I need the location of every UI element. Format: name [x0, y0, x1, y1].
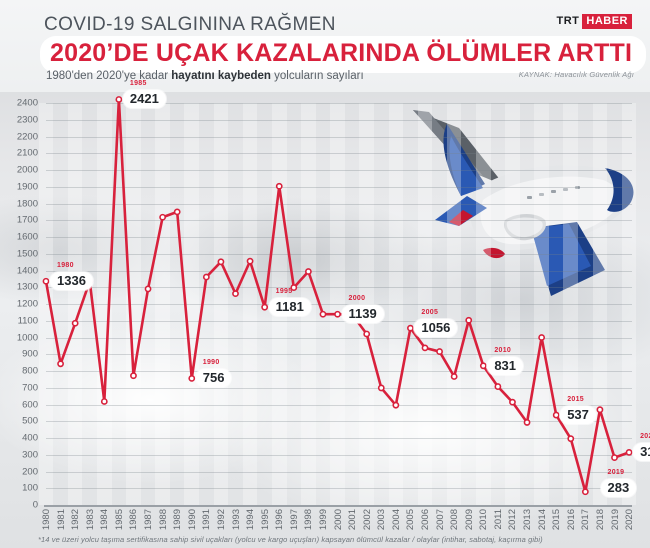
y-axis-tick-label: 200 [0, 466, 38, 477]
x-axis-tick-label: 1984 [99, 509, 110, 530]
x-axis-tick-label: 1994 [245, 509, 256, 530]
data-callout: 2010831 [487, 357, 523, 375]
x-axis-tick-label: 2004 [391, 509, 402, 530]
data-point [364, 331, 369, 336]
x-axis-tick-label: 2006 [420, 509, 431, 530]
data-point [175, 209, 180, 214]
data-point [102, 399, 107, 404]
header-banner: COVID-19 SALGININA RAĞMEN 2020’DE UÇAK K… [0, 0, 650, 92]
y-axis-tick-label: 1600 [0, 232, 38, 243]
data-point [277, 184, 282, 189]
x-axis-tick-label: 2002 [362, 509, 373, 530]
x-axis-tick-label: 2017 [580, 509, 591, 530]
x-axis-tick-label: 1990 [187, 509, 198, 530]
x-axis-tick-label: 1992 [216, 509, 227, 530]
callout-year: 2010 [494, 347, 511, 354]
page-title: 2020’DE UÇAK KAZALARINDA ÖLÜMLER ARTTI [50, 39, 632, 68]
logo-haber-text: HABER [582, 14, 632, 29]
x-axis-tick-label: 1995 [260, 509, 271, 530]
data-point [495, 384, 500, 389]
data-point [160, 215, 165, 220]
x-axis-tick-label: 2003 [376, 509, 387, 530]
y-axis-tick-label: 2100 [0, 148, 38, 159]
callout-value: 1336 [57, 273, 86, 288]
y-axis-tick-label: 700 [0, 382, 38, 393]
y-axis-tick-label: 500 [0, 416, 38, 427]
callout-year: 2000 [349, 295, 366, 302]
data-point [524, 420, 529, 425]
data-point [189, 376, 194, 381]
data-point [510, 400, 515, 405]
callout-value: 2421 [130, 91, 159, 106]
callout-value: 283 [608, 480, 630, 495]
y-axis-tick-label: 1700 [0, 215, 38, 226]
data-point [583, 489, 588, 494]
y-axis-tick-label: 0 [0, 500, 38, 511]
data-callout: 1990756 [196, 369, 232, 387]
x-axis-tick-label: 2009 [464, 509, 475, 530]
data-callout: 2015537 [560, 406, 596, 424]
source-credit: KAYNAK: Havacılık Güvenlik Ağı [519, 70, 634, 79]
x-axis-tick-label: 2020 [624, 509, 635, 530]
y-axis-tick-label: 1100 [0, 315, 38, 326]
logo-trt-text: TRT [556, 14, 582, 29]
data-point [58, 361, 63, 366]
y-axis-tick-label: 600 [0, 399, 38, 410]
kicker-text: COVID-19 SALGININA RAĞMEN [44, 14, 336, 36]
callout-year: 1985 [130, 80, 147, 87]
callout-year: 1995 [276, 288, 293, 295]
x-axis-tick-label: 1985 [114, 509, 125, 530]
x-axis-tick-label: 1981 [56, 509, 67, 530]
y-axis-tick-label: 1500 [0, 248, 38, 259]
data-point [306, 269, 311, 274]
x-axis-tick-label: 1993 [231, 509, 242, 530]
y-axis-tick-label: 2000 [0, 165, 38, 176]
data-point [131, 373, 136, 378]
y-axis-tick-label: 800 [0, 366, 38, 377]
data-point [597, 407, 602, 412]
trt-haber-logo: TRT HABER [556, 14, 632, 29]
x-axis-tick-label: 2012 [507, 509, 518, 530]
data-point [539, 335, 544, 340]
data-series-line [46, 103, 632, 505]
subtitle-emphasis: hayatını kaybeden [171, 70, 271, 82]
x-axis-tick-label: 1998 [303, 509, 314, 530]
x-axis-tick-label: 2008 [449, 509, 460, 530]
callout-value: 1056 [421, 320, 450, 335]
line-chart-plot: 0100200300400500600700800900100011001200… [46, 103, 632, 505]
x-axis-tick-label: 2007 [435, 509, 446, 530]
x-axis-tick-label: 2011 [493, 509, 504, 529]
callout-value: 1139 [349, 306, 377, 321]
subtitle-pre: 1980'den 2020'ye kadar [46, 70, 171, 82]
x-axis-tick-label: 2013 [522, 509, 533, 530]
y-axis-tick-label: 900 [0, 349, 38, 360]
x-axis-tick-label: 2016 [566, 509, 577, 530]
x-axis-tick-label: 2001 [347, 509, 358, 530]
y-axis-tick-label: 2200 [0, 131, 38, 142]
x-axis-tick-label: 1987 [143, 509, 154, 530]
data-point [247, 259, 252, 264]
x-axis-tick-label: 2019 [610, 509, 621, 530]
x-axis-tick-label: 2000 [333, 509, 344, 530]
callout-year: 2019 [608, 469, 625, 476]
data-point [452, 374, 457, 379]
data-point [204, 274, 209, 279]
x-axis-tick-label: 1980 [41, 509, 52, 530]
data-point [145, 286, 150, 291]
data-point [262, 305, 267, 310]
data-point [554, 412, 559, 417]
y-axis-tick-label: 1200 [0, 299, 38, 310]
callout-value: 314 [640, 444, 650, 459]
x-axis-tick-label: 1999 [318, 509, 329, 530]
x-axis-line [44, 505, 632, 507]
x-axis-tick-label: 1989 [172, 509, 183, 530]
data-point [116, 97, 121, 102]
title-plate: 2020’DE UÇAK KAZALARINDA ÖLÜMLER ARTTI [40, 36, 646, 73]
data-point [320, 312, 325, 317]
subtitle: 1980'den 2020'ye kadar hayatını kaybeden… [46, 70, 364, 82]
y-axis-tick-label: 2300 [0, 114, 38, 125]
data-callout: 20001139 [342, 305, 384, 323]
x-axis-tick-label: 2014 [537, 509, 548, 530]
footnote: *14 ve üzeri yolcu taşıma sertifikasına … [38, 535, 543, 544]
y-axis-tick-label: 300 [0, 449, 38, 460]
data-point [335, 312, 340, 317]
data-point [626, 450, 631, 455]
x-axis-tick-label: 1982 [70, 509, 81, 530]
callout-year: 1990 [203, 359, 220, 366]
data-point [422, 345, 427, 350]
data-callout: 19852421 [123, 90, 166, 108]
data-point [393, 403, 398, 408]
x-axis-tick-label: 1983 [85, 509, 96, 530]
x-axis-tick-label: 1986 [128, 509, 139, 530]
x-axis-tick-label: 2015 [551, 509, 562, 530]
y-axis-tick-label: 1800 [0, 198, 38, 209]
callout-year: 1980 [57, 262, 74, 269]
callout-value: 756 [203, 370, 225, 385]
callout-value: 831 [494, 358, 516, 373]
data-callout: 19951181 [269, 298, 311, 316]
y-axis-tick-label: 1900 [0, 181, 38, 192]
callout-value: 1181 [276, 299, 304, 314]
x-axis-tick-label: 2018 [595, 509, 606, 530]
data-callout: 20051056 [414, 319, 457, 337]
y-axis-tick-label: 100 [0, 483, 38, 494]
y-axis-tick-label: 1400 [0, 265, 38, 276]
data-point [466, 318, 471, 323]
y-axis-tick-label: 400 [0, 433, 38, 444]
data-callout: 2020314 [633, 443, 650, 461]
data-point [408, 326, 413, 331]
y-axis-tick-label: 1000 [0, 332, 38, 343]
y-axis-tick-label: 2400 [0, 98, 38, 109]
data-point [233, 291, 238, 296]
data-point [568, 436, 573, 441]
data-point [43, 279, 48, 284]
x-axis-tick-label: 1988 [158, 509, 169, 530]
callout-value: 537 [567, 407, 589, 422]
data-point [481, 363, 486, 368]
x-axis-tick-label: 1996 [274, 509, 285, 530]
series-polyline [46, 99, 629, 491]
callout-year: 2015 [567, 396, 584, 403]
x-axis-tick-label: 2010 [478, 509, 489, 530]
x-axis-tick-label: 2005 [405, 509, 416, 530]
x-axis-tick-label: 1991 [201, 509, 212, 530]
data-point [612, 455, 617, 460]
data-point [218, 259, 223, 264]
subtitle-post: yolcuların sayıları [271, 70, 364, 82]
data-point [73, 321, 78, 326]
callout-year: 2020 [640, 433, 650, 440]
data-callout: 19801336 [50, 272, 93, 290]
y-axis-tick-label: 1300 [0, 282, 38, 293]
callout-year: 2005 [421, 309, 438, 316]
data-point [437, 349, 442, 354]
x-axis-tick-label: 1997 [289, 509, 300, 530]
data-point [379, 385, 384, 390]
data-callout: 2019283 [601, 479, 637, 497]
